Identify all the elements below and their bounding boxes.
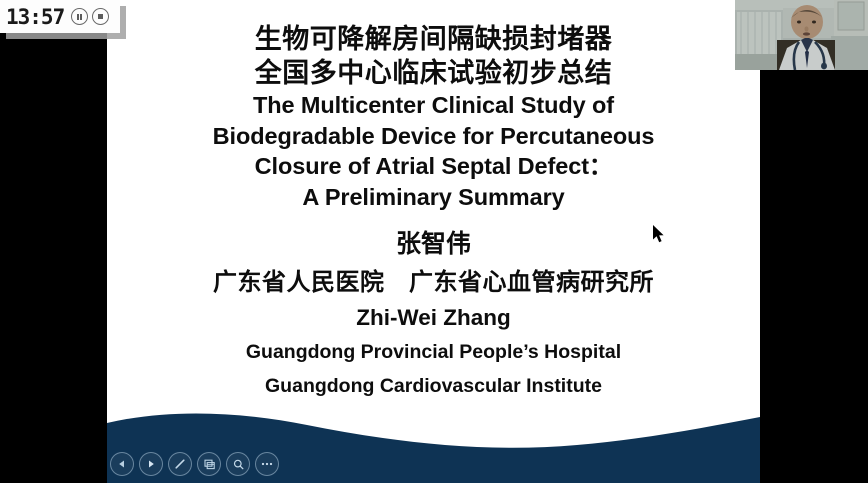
slide-title-cn-line2: 全国多中心临床试验初步总结 [107,56,760,90]
slide-author-cn: 张智伟 [107,228,760,260]
pen-icon [173,457,187,471]
presenter-webcam[interactable] [735,0,868,70]
slide-affiliation-en-line1: Guangdong Provincial People’s Hospital [107,335,760,369]
slide-content: 生物可降解房间隔缺损封堵器 全国多中心临床试验初步总结 The Multicen… [107,22,760,403]
slide-title-en-line1: The Multicenter Clinical Study of [107,90,760,121]
slide-author-en: Zhi-Wei Zhang [107,300,760,335]
pen-tool-button[interactable] [168,452,192,476]
slide-title-en-line4: A Preliminary Summary [107,182,760,213]
slide-canvas: 生物可降解房间隔缺损封堵器 全国多中心临床试验初步总结 The Multicen… [107,0,760,483]
slide-title-en-line3: Closure of Atrial Septal Defect： [107,151,760,182]
title-author-spacer [107,212,760,228]
slide-title-cn-line1: 生物可降解房间隔缺损封堵器 [107,22,760,56]
zoom-button[interactable] [226,452,250,476]
arrow-right-icon [145,458,157,470]
timer-pause-button[interactable] [71,8,88,25]
timer-stop-button[interactable] [92,8,109,25]
slide-title-en-line2: Biodegradable Device for Percutaneous [107,121,760,152]
presentation-screen: 生物可降解房间隔缺损封堵器 全国多中心临床试验初步总结 The Multicen… [0,0,868,483]
presentation-timer-widget[interactable]: 13:57 [0,0,120,33]
pause-icon [77,14,82,20]
slide-affiliation-en-line2: Guangdong Cardiovascular Institute [107,369,760,403]
arrow-left-icon [116,458,128,470]
previous-slide-button[interactable] [110,452,134,476]
slide-affiliation-cn: 广东省人民医院 广东省心血管病研究所 [107,266,760,300]
slides-grid-icon [203,458,216,471]
magnifier-icon [232,458,245,471]
next-slide-button[interactable] [139,452,163,476]
ellipsis-icon [260,461,274,467]
all-slides-button[interactable] [197,452,221,476]
stop-icon [98,14,103,19]
more-options-button[interactable] [255,452,279,476]
timer-value: 13:57 [6,6,64,28]
timer-controls [71,8,109,25]
presenter-toolbar [110,452,279,476]
